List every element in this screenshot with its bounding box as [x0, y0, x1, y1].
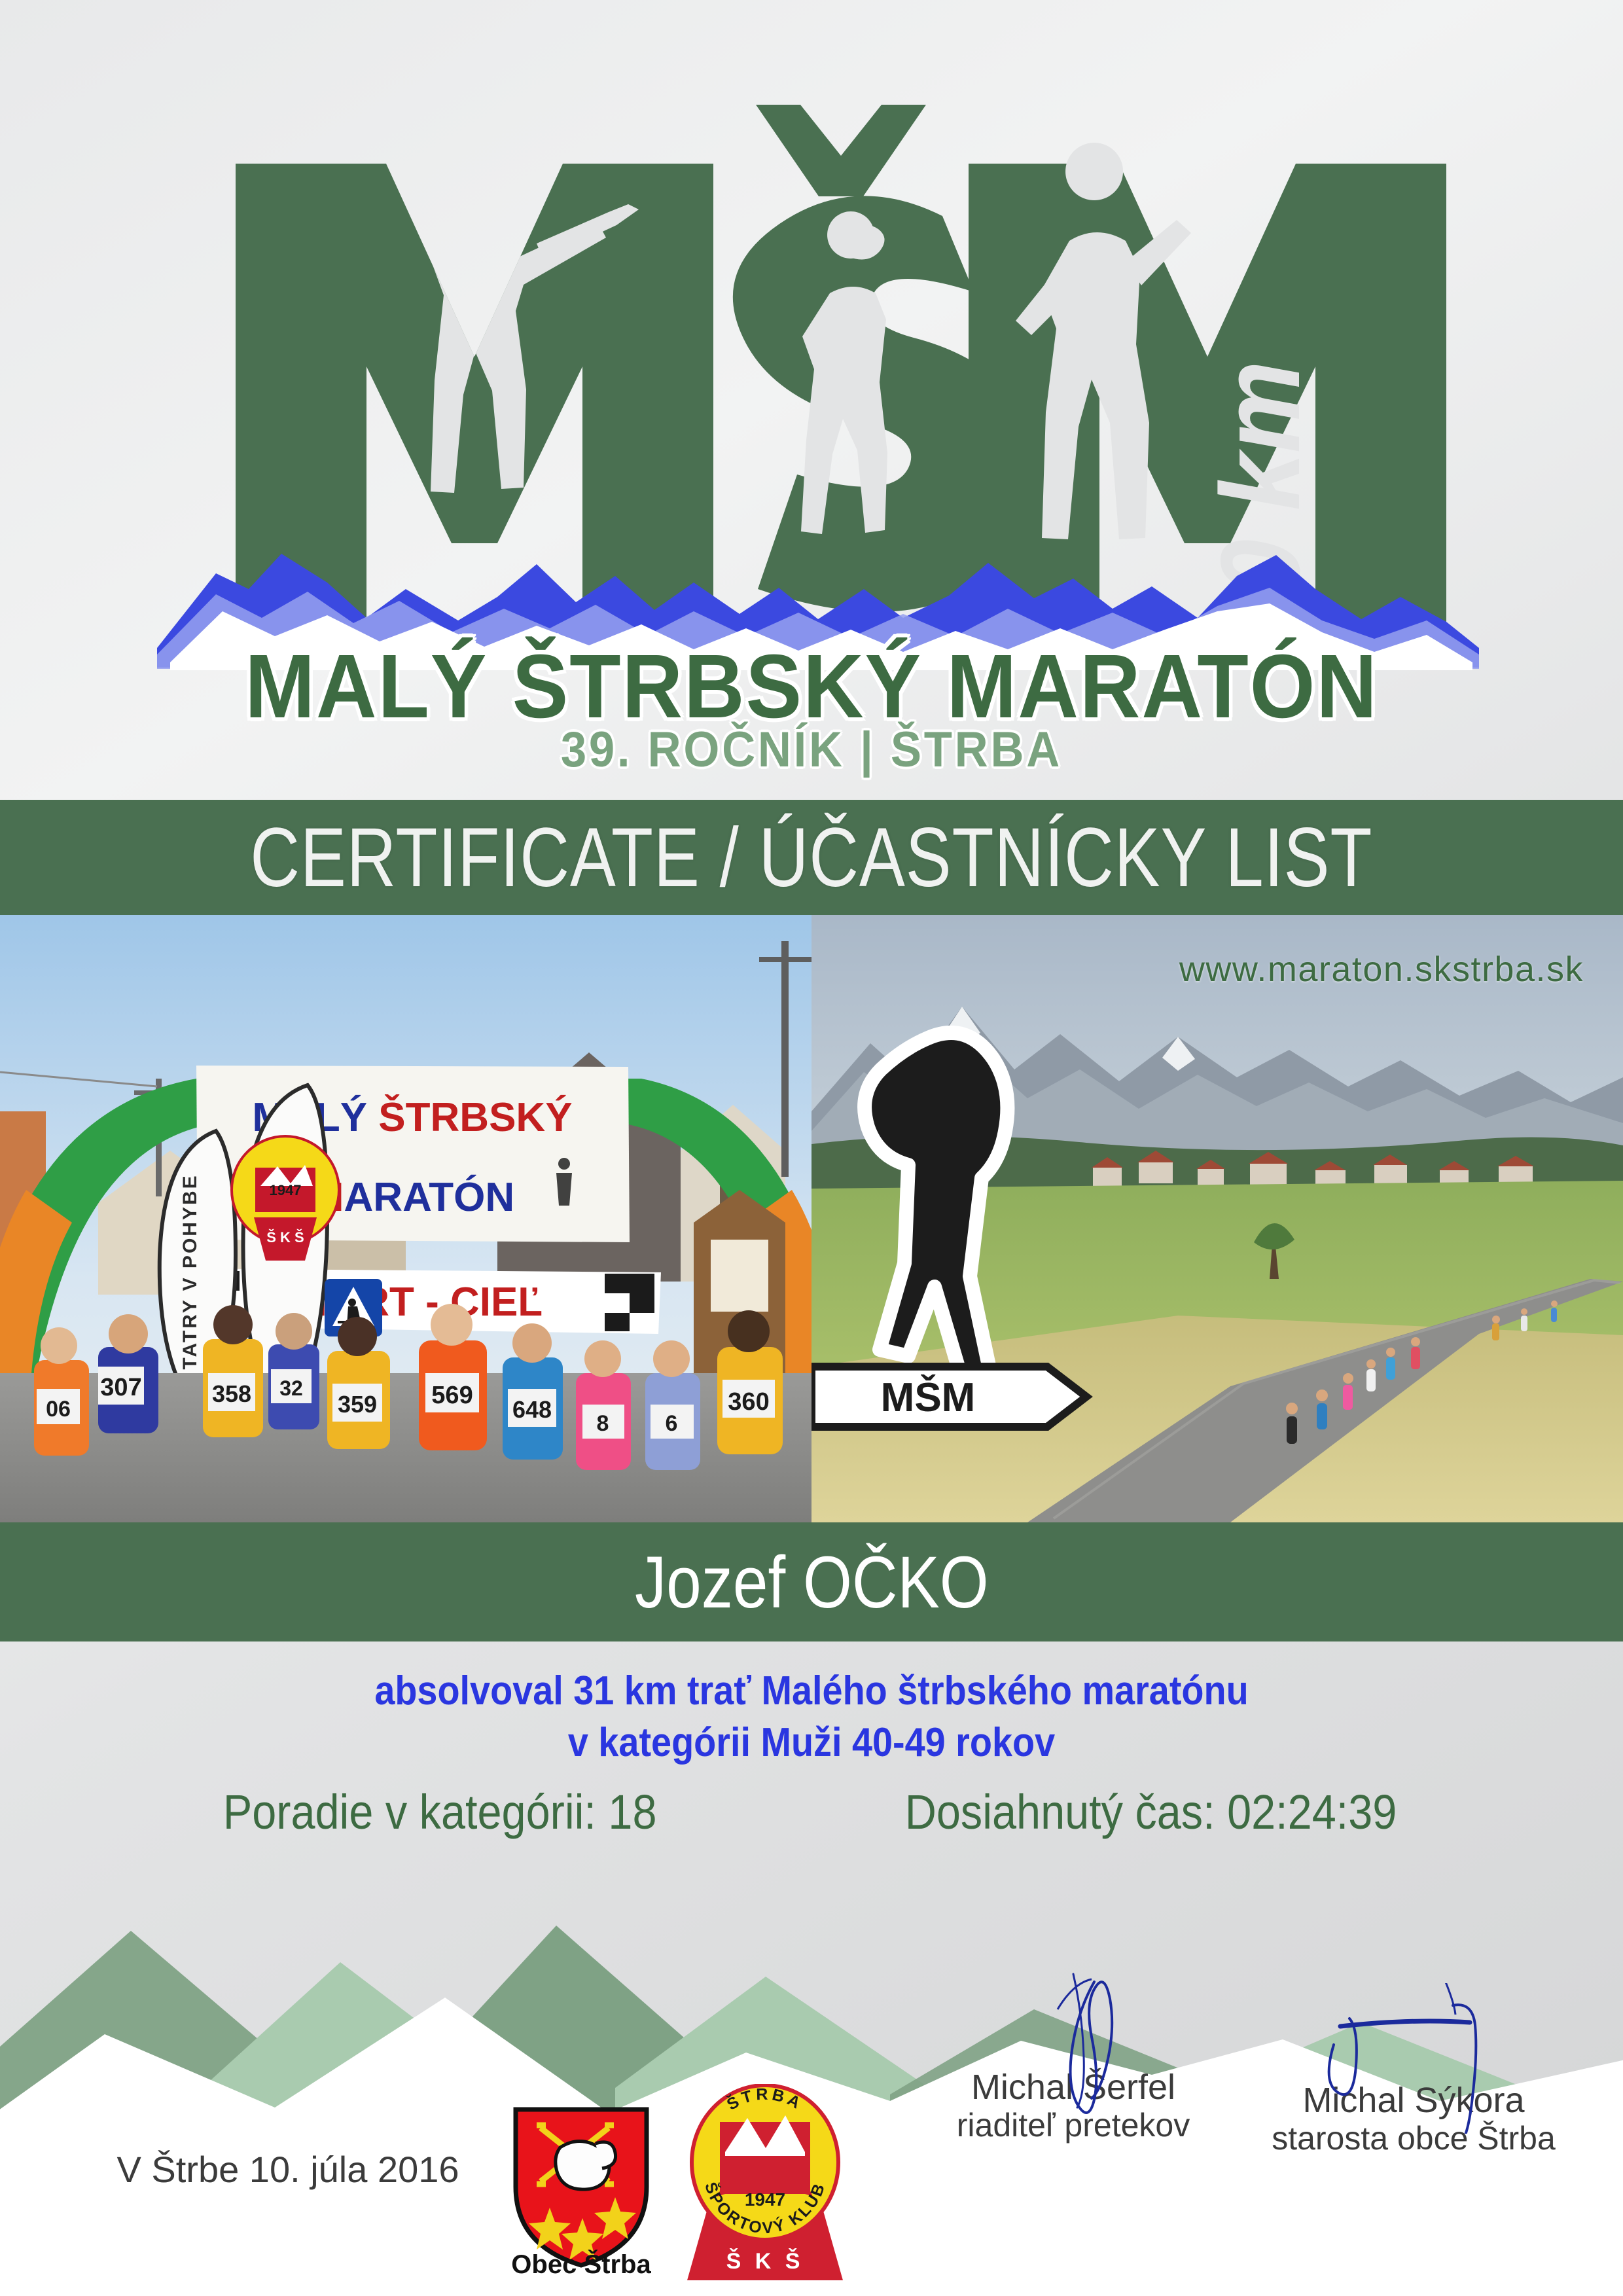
svg-text:MŠM: MŠM [881, 1375, 976, 1420]
obec-strba-emblem: Obec Štrba [503, 2089, 660, 2286]
club-year: 1947 [745, 2189, 785, 2210]
signatory-role: starosta obce Štrba [1178, 2119, 1623, 2158]
participant-name-band: Jozef OČKO [0, 1522, 1623, 1641]
certificate-footer: V Štrbe 10. júla 2016 [0, 1885, 1623, 2296]
mountain-road-illustration: MŠM [811, 915, 1623, 1522]
club-initials: Š K Š [726, 2248, 804, 2274]
svg-text:06: 06 [46, 1397, 71, 1422]
svg-text:648: 648 [512, 1396, 552, 1423]
svg-text:359: 359 [338, 1391, 377, 1418]
description-line-2: v kategórii Muži 40-49 rokov [81, 1717, 1542, 1768]
svg-text:32: 32 [279, 1376, 303, 1400]
participant-name: Jozef OČKO [635, 1540, 989, 1624]
svg-text:1947: 1947 [270, 1182, 302, 1198]
svg-text:360: 360 [728, 1388, 769, 1416]
achievement-description: absolvoval 31 km trať Malého štrbského m… [0, 1665, 1623, 1769]
category-rank: Poradie v kategórii: 18 [223, 1784, 657, 1840]
svg-text:6: 6 [666, 1411, 678, 1436]
sports-club-icon: 1947 ŠTRBA ŠPORTOVÝ KLUB Š K Š [683, 2084, 847, 2287]
signature-block-mayor: Michal Sýkora starosta obce Štrba [1178, 2081, 1623, 2158]
race-start-photo: MALÝ ŠTRBSKÝ MARATÓN ŠTART - CIEĽ [0, 915, 811, 1522]
obec-strba-caption: Obec Štrba [503, 2250, 660, 2280]
website-url[interactable]: www.maraton.skstrba.sk [1179, 949, 1584, 990]
svg-text:358: 358 [212, 1380, 251, 1407]
svg-text:307: 307 [100, 1374, 141, 1401]
finish-time: Dosiahnutý čas: 02:24:39 [904, 1784, 1397, 1840]
event-logo-block: 31 km [0, 0, 1623, 800]
photo-strip: MALÝ ŠTRBSKÝ MARATÓN ŠTART - CIEĽ [0, 915, 1623, 1522]
event-subtitle: 39. ROČNÍK | ŠTRBA [0, 721, 1623, 778]
result-row: Poradie v kategórii: 18 Dosiahnutý čas: … [0, 1784, 1623, 1840]
race-start-illustration: MALÝ ŠTRBSKÝ MARATÓN ŠTART - CIEĽ [0, 915, 811, 1522]
svg-text:TATRY V POHYBE: TATRY V POHYBE [179, 1174, 201, 1369]
sks-club-emblem: 1947 ŠTRBA ŠPORTOVÝ KLUB Š K Š [683, 2084, 847, 2287]
signatory-name: Michal Sýkora [1178, 2081, 1623, 2119]
participant-details: absolvoval 31 km trať Malého štrbského m… [0, 1641, 1623, 1885]
certificate-banner-title: CERTIFICATE / ÚČASTNÍCKY LIST [250, 810, 1372, 906]
svg-text:569: 569 [431, 1382, 473, 1409]
mountain-road-photo: MŠM www.maraton.skstrba.sk [811, 915, 1623, 1522]
certificate-banner: CERTIFICATE / ÚČASTNÍCKY LIST [0, 800, 1623, 915]
certificate-page: 31 km [0, 0, 1623, 2296]
issue-date: V Štrbe 10. júla 2016 [79, 2148, 497, 2191]
svg-text:Š K Š: Š K Š [266, 1229, 304, 1246]
svg-text:MARATÓN: MARATÓN [310, 1175, 514, 1220]
description-line-1: absolvoval 31 km trať Malého štrbského m… [81, 1665, 1542, 1717]
svg-text:8: 8 [597, 1411, 609, 1436]
